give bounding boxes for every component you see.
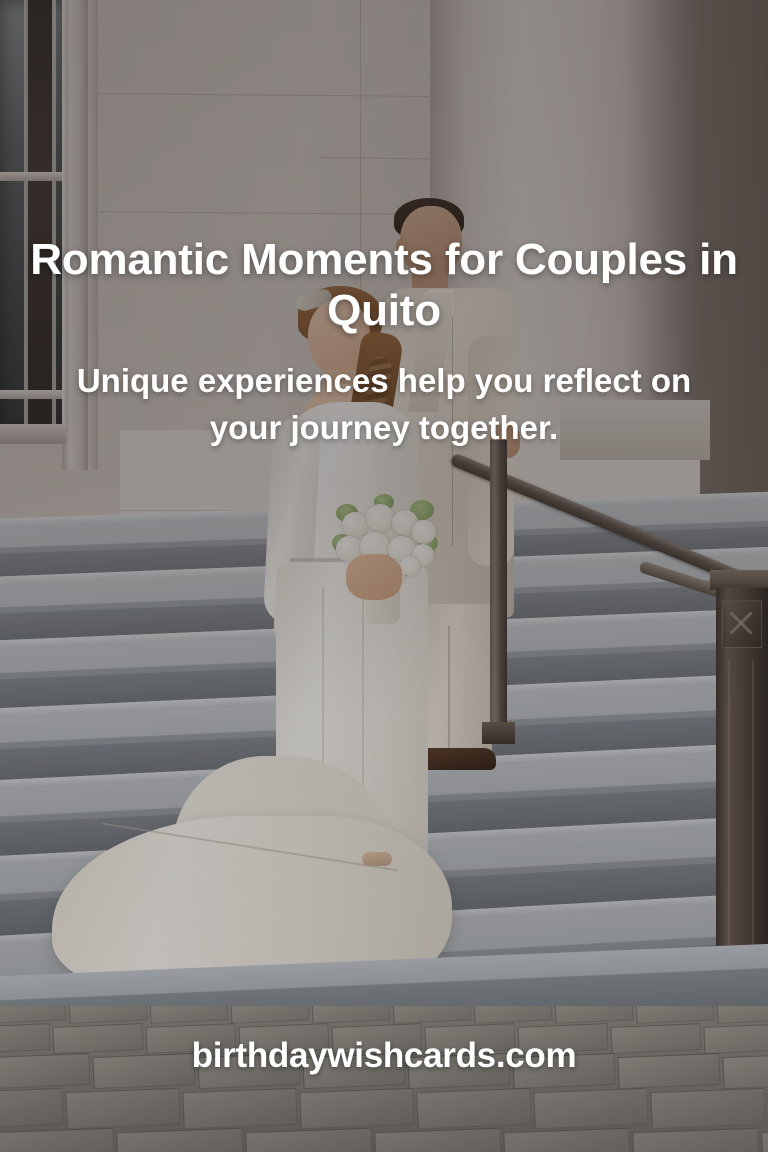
photo-darkening-overlay	[0, 0, 768, 1152]
greeting-card: Romantic Moments for Couples in Quito Un…	[0, 0, 768, 1152]
page-title: Romantic Moments for Couples in Quito	[10, 234, 758, 336]
site-watermark: birthdaywishcards.com	[0, 1036, 768, 1076]
page-subtitle: Unique experiences help you reflect on y…	[64, 358, 704, 452]
